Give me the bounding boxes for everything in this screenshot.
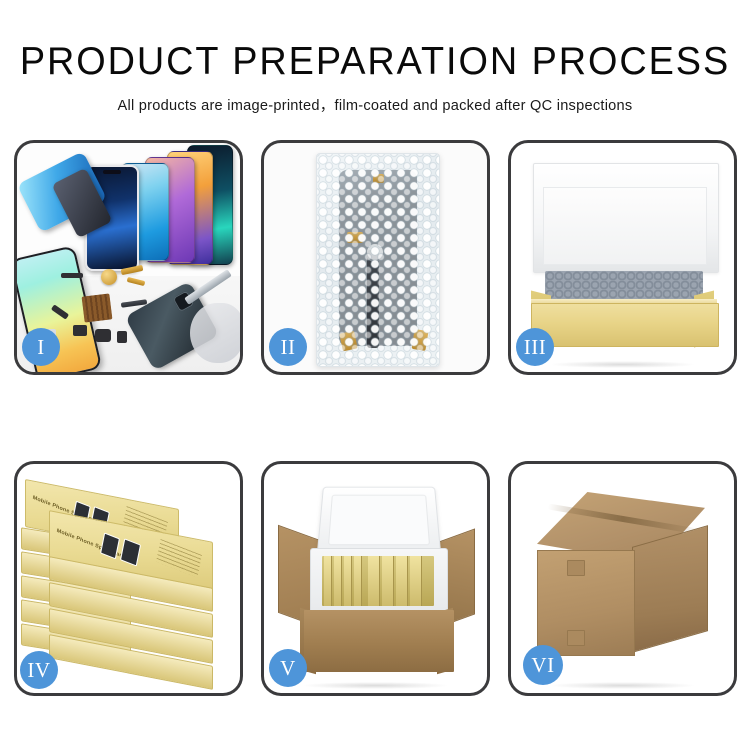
process-step-panel-4[interactable]: Mobile Phone Spare Parts Mobile Phone Sp… — [14, 461, 243, 696]
process-step-panel-2[interactable]: II — [261, 140, 490, 375]
carton-tab-top — [567, 560, 585, 576]
step-badge-5: V — [269, 649, 307, 687]
box-front-panel — [531, 303, 719, 347]
carton-body-front — [304, 610, 454, 672]
bubble-texture-overlay — [317, 154, 439, 366]
chip-part-1 — [61, 273, 83, 278]
process-step-panel-1[interactable]: I — [14, 140, 243, 375]
inner-box-slat — [396, 556, 408, 606]
logic-board-part — [82, 293, 113, 322]
box-lid-inner-face — [543, 187, 707, 265]
inner-box-slat — [344, 556, 352, 606]
inner-box-slat — [354, 556, 362, 606]
foam-lid — [317, 487, 442, 555]
inner-box-slat — [334, 556, 342, 606]
header: PRODUCT PREPARATION PROCESS All products… — [0, 0, 750, 115]
yellow-boxes-inside — [322, 556, 434, 606]
inner-box-slat — [368, 556, 380, 606]
process-step-panel-6[interactable]: VI — [508, 461, 737, 696]
inner-box-slat — [324, 556, 332, 606]
product-preparation-infographic: PRODUCT PREPARATION PROCESS All products… — [0, 0, 750, 750]
carton-side-face — [632, 525, 708, 653]
page-subtitle: All products are image-printed，film-coat… — [0, 94, 750, 115]
step-badge-1: I — [22, 328, 60, 366]
carton-front-face — [537, 550, 635, 656]
step-badge-3: III — [516, 328, 554, 366]
chip-part-4 — [117, 331, 127, 343]
hand-graphic — [190, 303, 240, 363]
drop-shadow — [551, 682, 694, 689]
box-stack: Mobile Phone Spare Parts Mobile Phone Sp… — [21, 476, 237, 682]
inner-box-slat — [382, 556, 394, 606]
chip-part-3 — [95, 329, 111, 342]
drop-shadow — [551, 361, 694, 368]
page-title: PRODUCT PREPARATION PROCESS — [11, 42, 739, 81]
box-label-lines-front — [156, 539, 202, 578]
process-step-panel-3[interactable]: III — [508, 140, 737, 375]
box-label-screen-4 — [120, 538, 141, 566]
step-badge-6: VI — [523, 645, 563, 685]
bubble-wrap-bag — [316, 153, 440, 367]
step-badge-4: IV — [20, 651, 58, 689]
process-step-grid: I II — [14, 140, 736, 700]
carton-tab-bottom — [567, 630, 585, 646]
process-step-panel-5[interactable]: V — [261, 461, 490, 696]
speaker-part — [101, 269, 117, 285]
step-badge-2: II — [269, 328, 307, 366]
drop-shadow — [304, 682, 447, 689]
inner-box-slat — [410, 556, 422, 606]
chip-part-2 — [73, 325, 87, 336]
